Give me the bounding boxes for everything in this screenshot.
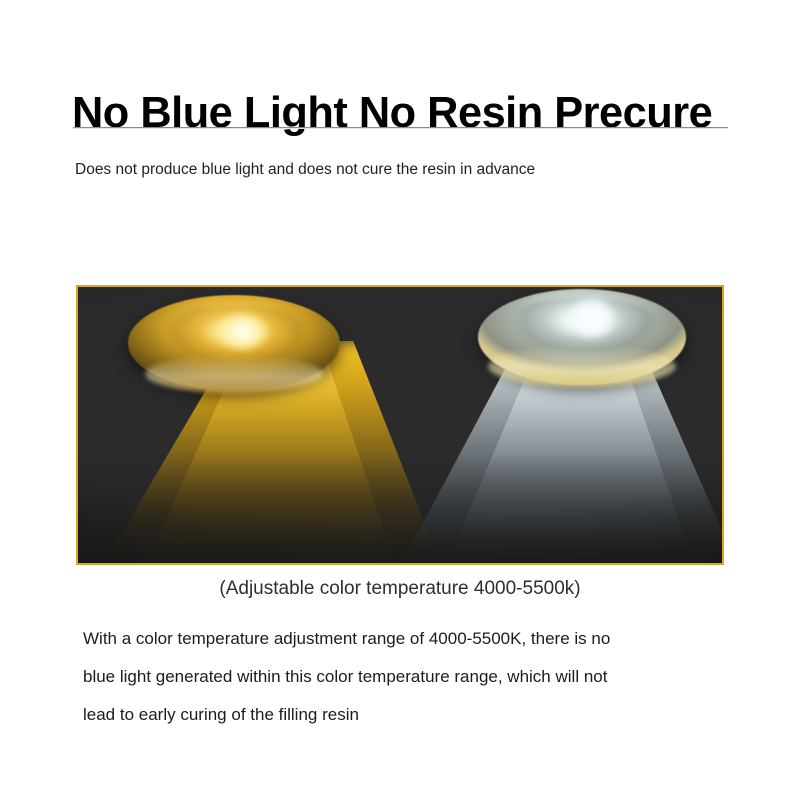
page-subtitle: Does not produce blue light and does not… [75, 158, 535, 182]
page-title: No Blue Light No Resin Precure [72, 87, 742, 139]
product-photo [76, 285, 724, 565]
body-copy: With a color temperature adjustment rang… [83, 620, 723, 734]
cool-light-reflector [478, 289, 686, 385]
body-line: lead to early curing of the filling resi… [83, 696, 723, 734]
cool-reflector-hotspot [570, 297, 616, 339]
body-line: With a color temperature adjustment rang… [83, 620, 723, 658]
warm-reflector-hotspot [217, 312, 268, 350]
photo-caption: (Adjustable color temperature 4000-5500k… [76, 575, 724, 603]
body-line: blue light generated within this color t… [83, 658, 723, 696]
product-feature-page: No Blue Light No Resin Precure Does not … [0, 0, 800, 800]
title-divider [73, 127, 728, 129]
cool-reflector-lip [488, 345, 675, 387]
warm-reflector-lip [145, 355, 323, 393]
photo-scene [78, 287, 722, 563]
warm-light-reflector [128, 295, 340, 391]
